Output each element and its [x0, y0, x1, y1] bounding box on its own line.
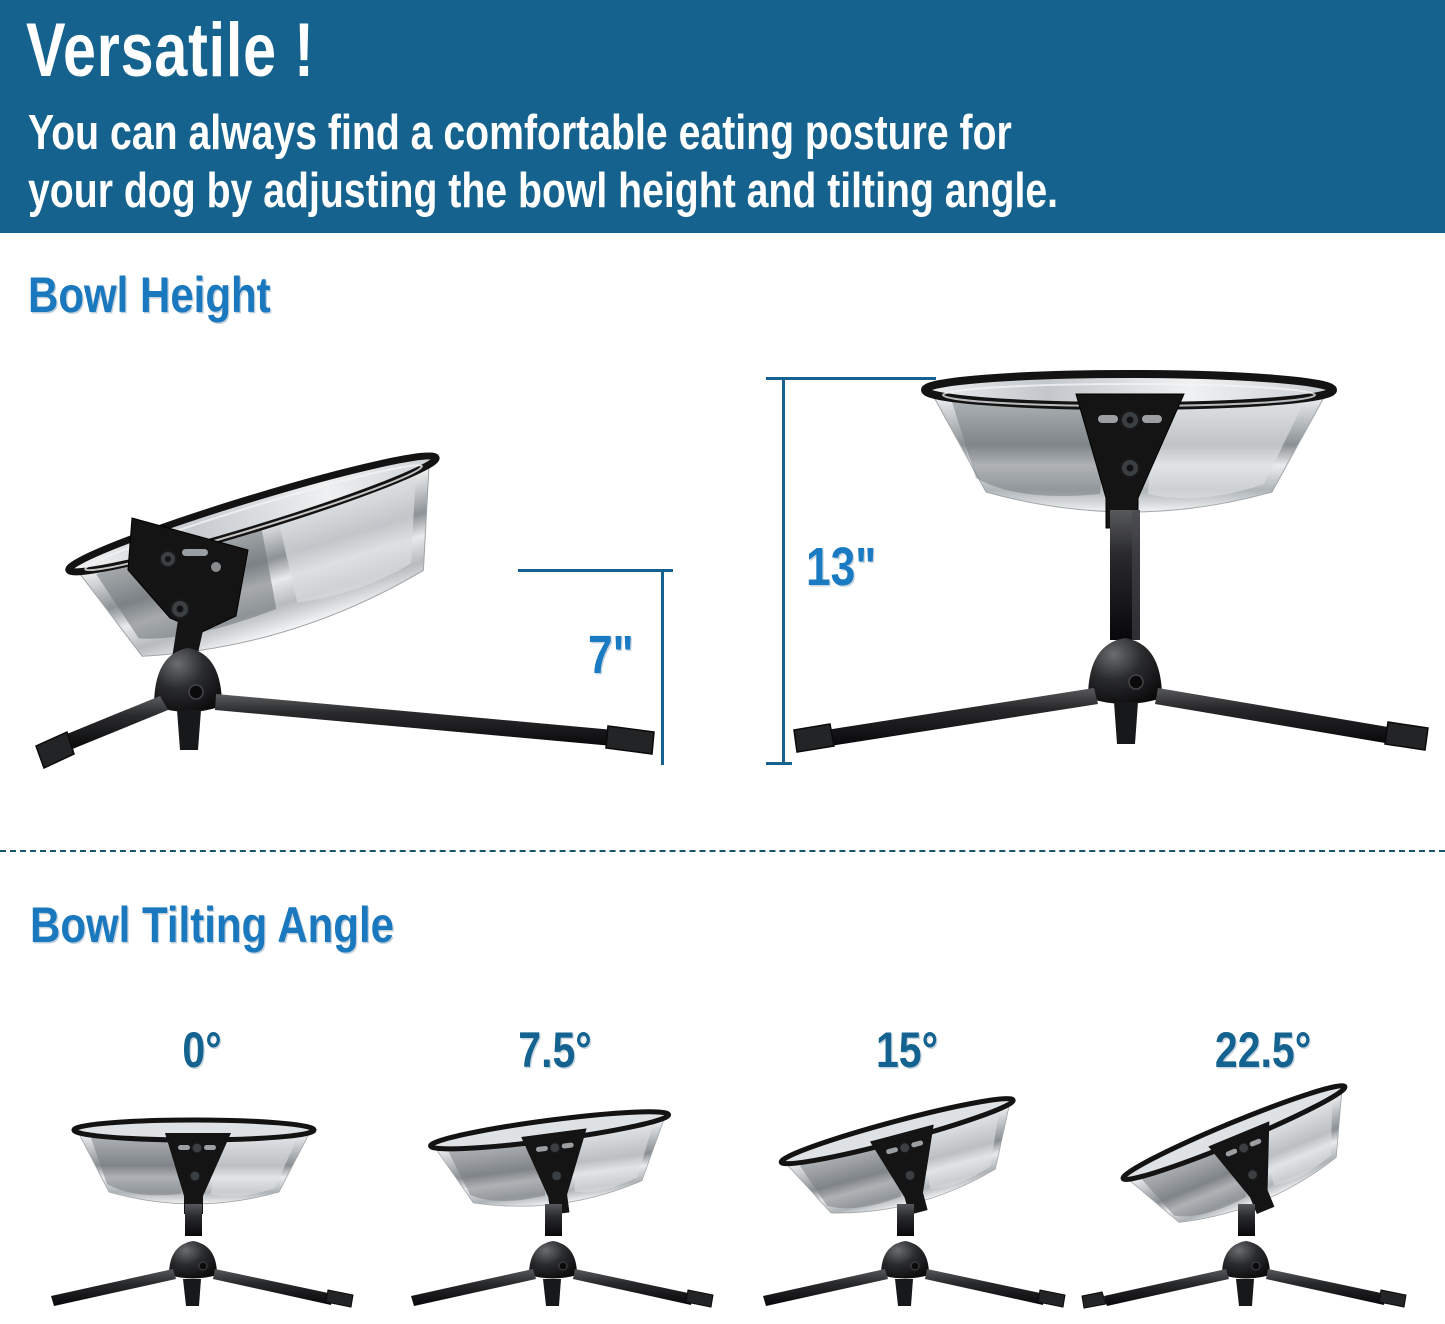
banner-title: Versatile ! — [26, 12, 315, 90]
product-image-short-stand — [20, 420, 680, 780]
post-0deg — [185, 1204, 202, 1236]
dimension-tick-13in-bottom — [766, 762, 792, 765]
ball-joint-22-5deg — [1222, 1241, 1270, 1279]
ball-joint-tall — [1088, 638, 1162, 704]
post-15deg — [897, 1204, 914, 1236]
section-heading-bowl-height: Bowl Height — [28, 266, 271, 324]
product-image-angle-22-5 — [1098, 1108, 1443, 1323]
ball-joint-7-5deg — [529, 1241, 577, 1279]
ball-joint-0deg — [169, 1241, 217, 1279]
banner-subtitle: You can always find a comfortable eating… — [28, 104, 1058, 220]
dimension-tick-13in-top — [766, 377, 936, 380]
banner-subtitle-line-2: your dog by adjusting the bowl height an… — [28, 162, 1058, 220]
product-image-angle-0 — [45, 1108, 390, 1323]
tall-stand-illustration — [780, 360, 1440, 770]
stand-illustration-15deg — [757, 1108, 1102, 1323]
header-banner: Versatile ! You can always find a comfor… — [0, 0, 1445, 233]
short-stand-illustration — [20, 420, 680, 780]
section-heading-bowl-tilting-angle: Bowl Tilting Angle — [30, 896, 394, 954]
tripod-base-short — [36, 694, 654, 768]
angle-label-7-5deg: 7.5° — [485, 1021, 624, 1079]
section-divider — [0, 850, 1445, 852]
product-image-angle-15 — [757, 1108, 1102, 1323]
angle-label-22-5deg: 22.5° — [1185, 1021, 1341, 1079]
product-image-tall-stand — [780, 360, 1440, 770]
dimension-line-7in-horizontal — [518, 569, 673, 572]
angle-label-15deg: 15° — [846, 1021, 969, 1079]
bowl-short — [64, 443, 471, 686]
product-image-angle-7-5 — [405, 1108, 750, 1323]
post-22-5deg — [1238, 1204, 1255, 1236]
stand-illustration-0deg — [45, 1108, 390, 1323]
stand-illustration-22-5deg — [1098, 1108, 1443, 1323]
dimension-line-7in-vertical — [661, 569, 664, 765]
dimension-label-7in: 7" — [588, 624, 634, 686]
dimension-label-13in: 13" — [806, 536, 876, 598]
stand-illustration-7-5deg — [405, 1108, 750, 1323]
post-7-5deg — [545, 1204, 562, 1236]
ball-joint-short — [154, 648, 222, 712]
ball-joint-15deg — [881, 1241, 929, 1279]
dimension-line-13in-vertical — [782, 377, 785, 765]
angle-label-0deg: 0° — [145, 1021, 260, 1079]
banner-subtitle-line-1: You can always find a comfortable eating… — [28, 104, 1058, 162]
